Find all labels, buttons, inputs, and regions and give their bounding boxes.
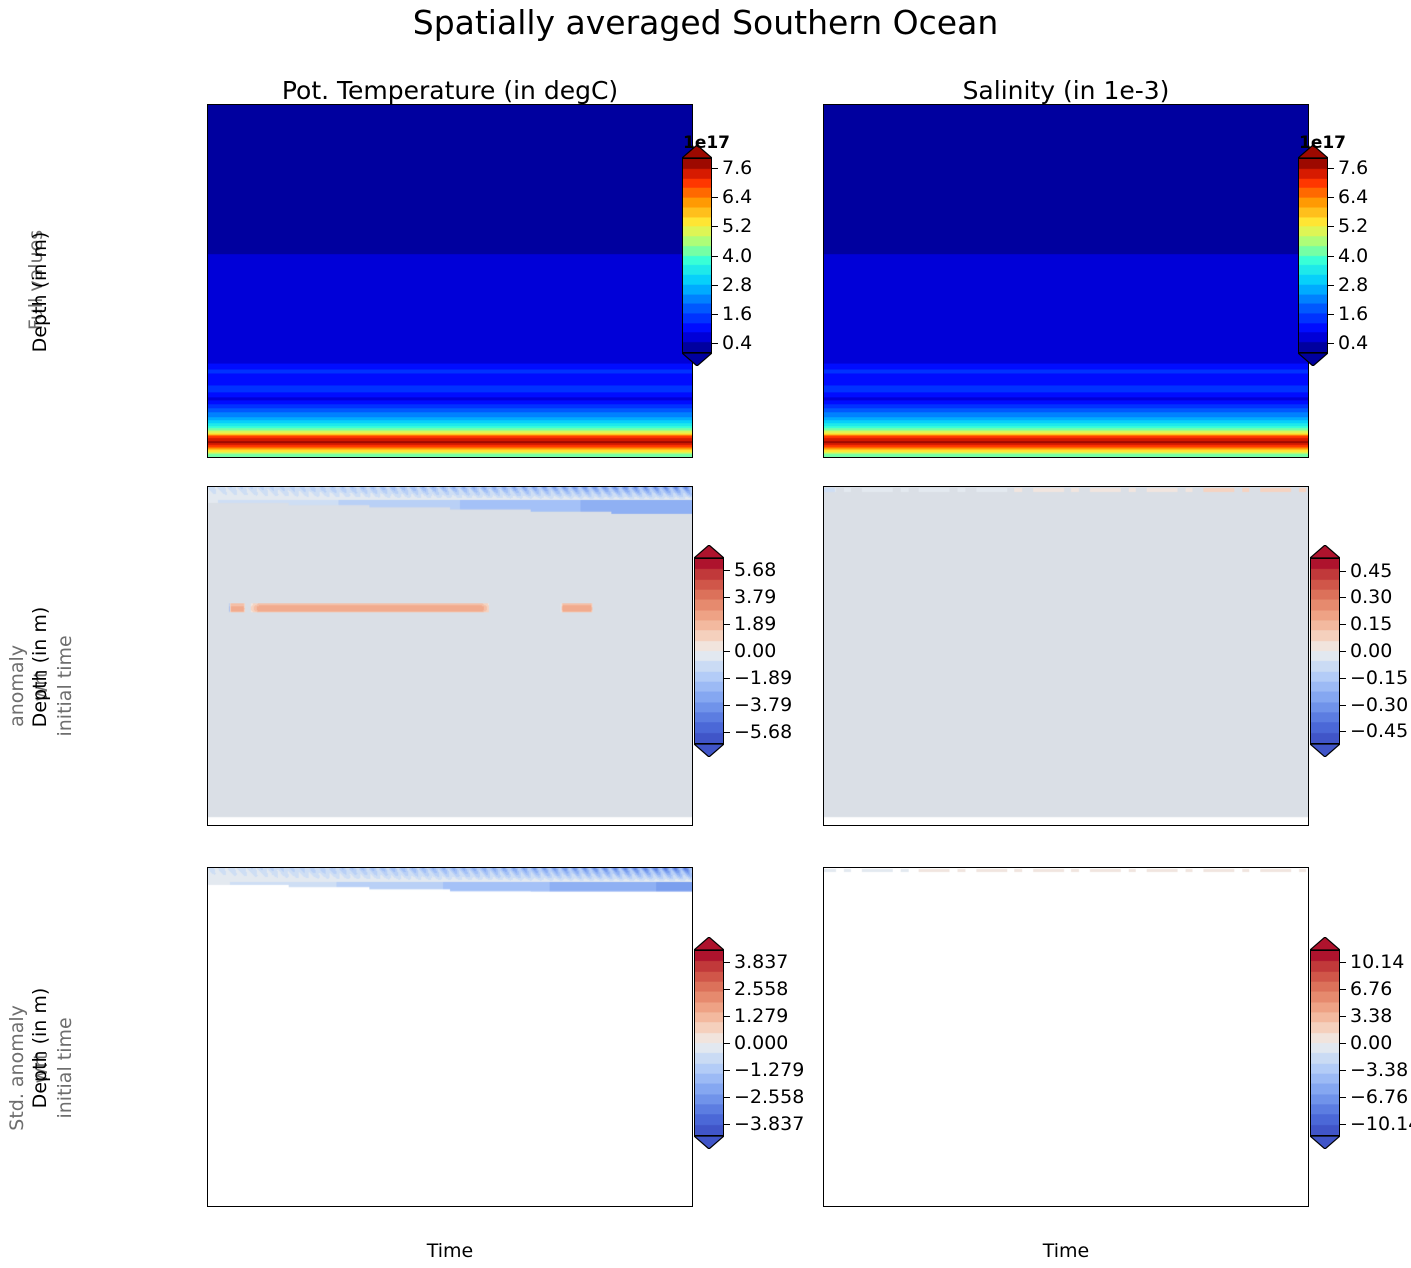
colorbar-tick-mark — [1328, 256, 1334, 257]
colorbar-tick-label: 4.0 — [1338, 245, 1368, 267]
x-tick-mark — [933, 825, 934, 826]
colorbar-extend-top — [694, 937, 724, 950]
colorbar-extend-bottom — [1310, 744, 1340, 757]
colorbar-panel-temp-full: 0.41.62.84.05.26.47.6 — [682, 158, 712, 353]
x-tick-mark — [317, 457, 318, 458]
colorbar-tick-label: 1.6 — [722, 303, 752, 325]
colorbar-tick-label: 1.279 — [734, 1005, 788, 1027]
colorbar-tick-mark — [1340, 731, 1346, 732]
x-tick-mark — [317, 825, 318, 826]
x-tick-mark — [1284, 1206, 1285, 1207]
colorbar-tick-mark — [1340, 1016, 1346, 1017]
x-tick-mark — [1109, 825, 1110, 826]
colorbar-tick-label: 2.8 — [1338, 274, 1368, 296]
x-tick-mark — [405, 825, 406, 826]
x-tick-mark — [846, 825, 847, 826]
colorbar-tick-label: 6.4 — [1338, 186, 1368, 208]
colorbar-tick-label: −0.45 — [1350, 720, 1408, 742]
panel-temp-full[interactable]: 010002000300040005000 — [207, 104, 693, 458]
x-tick-mark — [1240, 825, 1241, 826]
colorbar-tick-mark — [712, 256, 718, 257]
colorbar-tick-mark — [724, 1070, 730, 1071]
colorbar-tick-mark — [1328, 197, 1334, 198]
colorbar-tick-label: 10.14 — [1350, 951, 1404, 973]
x-tick-mark — [890, 457, 891, 458]
colorbar-tick-mark — [1340, 651, 1346, 652]
x-tick-mark — [1284, 457, 1285, 458]
colorbar-tick-mark — [724, 1016, 730, 1017]
colorbar-tick-mark — [712, 197, 718, 198]
colorbar-tick-label: 0.45 — [1350, 560, 1392, 582]
colorbar-tick-mark — [1328, 285, 1334, 286]
colorbar-tick-label: 4.0 — [722, 245, 752, 267]
figure-suptitle: Spatially averaged Southern Ocean — [0, 3, 1411, 42]
y-axis-label-depth: Depth (in m) — [29, 567, 51, 767]
x-axis-label-time: Time — [823, 1240, 1309, 1262]
colorbar-tick-label: 1.89 — [734, 613, 776, 635]
colorbar-panel-salt-anomaly: 0.450.300.150.00−0.15−0.30−0.45 — [1310, 558, 1340, 744]
colorbar-tick-label: 6.76 — [1350, 978, 1392, 1000]
colorbar-tick-mark — [1328, 314, 1334, 315]
x-tick-mark — [449, 825, 450, 826]
x-tick-mark — [361, 457, 362, 458]
colorbar-tick-label: 0.00 — [1350, 640, 1392, 662]
colorbar-tick-label: 5.68 — [734, 559, 776, 581]
x-tick-mark — [274, 1206, 275, 1207]
x-tick-mark — [846, 1206, 847, 1207]
colorbar-tick-mark — [724, 651, 730, 652]
x-tick-mark — [1196, 825, 1197, 826]
colorbar-tick-label: 6.4 — [722, 186, 752, 208]
x-tick-mark — [624, 1206, 625, 1207]
x-tick-mark — [230, 825, 231, 826]
colorbar-tick-mark — [724, 1124, 730, 1125]
x-tick-mark — [1284, 825, 1285, 826]
x-tick-mark — [1196, 1206, 1197, 1207]
colorbar-tick-mark — [1340, 962, 1346, 963]
colorbar-tick-label: 3.79 — [734, 586, 776, 608]
colorbar-gradient — [1310, 950, 1340, 1136]
colorbar-panel-salt-full: 0.41.62.84.05.26.47.6 — [1298, 158, 1328, 353]
colorbar-tick-label: 0.15 — [1350, 613, 1392, 635]
x-tick-mark — [1021, 1206, 1022, 1207]
x-tick-mark — [890, 1206, 891, 1207]
x-tick-mark — [536, 1206, 537, 1207]
x-tick-mark — [1152, 825, 1153, 826]
colorbar-gradient — [682, 158, 712, 353]
x-tick-mark — [580, 825, 581, 826]
colorbar-panel-temp-anomaly: 5.683.791.890.00−1.89−3.79−5.68 — [694, 558, 724, 744]
colorbar-tick-mark — [724, 597, 730, 598]
x-tick-mark — [1021, 457, 1022, 458]
colorbar-extend-bottom — [694, 744, 724, 757]
y-axis-label-depth: Depth (in m) — [29, 948, 51, 1148]
colorbar-tick-label: 7.6 — [722, 157, 752, 179]
x-tick-mark — [536, 457, 537, 458]
x-tick-mark — [624, 457, 625, 458]
x-tick-mark — [449, 1206, 450, 1207]
colorbar-gradient — [1310, 558, 1340, 744]
colorbar-tick-mark — [1340, 989, 1346, 990]
heatmap-salt-std-anomaly — [824, 868, 1308, 1206]
x-tick-mark — [933, 1206, 934, 1207]
x-tick-mark — [274, 457, 275, 458]
colorbar-tick-label: 1.6 — [1338, 303, 1368, 325]
colorbar-tick-label: 5.2 — [1338, 215, 1368, 237]
colorbar-tick-mark — [712, 168, 718, 169]
colorbar-gradient — [694, 558, 724, 744]
x-tick-mark — [1065, 457, 1066, 458]
colorbar-extend-bottom — [682, 353, 712, 366]
colorbar-offset-text: 1e17 — [683, 133, 730, 153]
colorbar-tick-label: −2.558 — [734, 1086, 804, 1108]
x-tick-mark — [493, 1206, 494, 1207]
colorbar-tick-mark — [1340, 571, 1346, 572]
x-tick-mark — [1021, 825, 1022, 826]
colorbar-tick-label: 2.8 — [722, 274, 752, 296]
colorbar-tick-mark — [724, 1043, 730, 1044]
colorbar-tick-mark — [712, 226, 718, 227]
colorbar-offset-text: 1e17 — [1299, 133, 1346, 153]
colorbar-tick-mark — [712, 343, 718, 344]
colorbar-tick-mark — [724, 678, 730, 679]
x-tick-mark — [361, 1206, 362, 1207]
colorbar-tick-label: 0.30 — [1350, 586, 1392, 608]
colorbar-tick-mark — [724, 989, 730, 990]
colorbar-tick-label: 3.837 — [734, 951, 788, 973]
colorbar-tick-label: 0.00 — [1350, 1032, 1392, 1054]
colorbar-tick-mark — [724, 624, 730, 625]
column-title-pot-temperature: Pot. Temperature (in degC) — [207, 76, 693, 105]
colorbar-tick-label: 3.38 — [1350, 1005, 1392, 1027]
colorbar-extend-bottom — [1298, 353, 1328, 366]
x-tick-mark — [405, 457, 406, 458]
colorbar-tick-label: −6.76 — [1350, 1086, 1408, 1108]
x-tick-mark — [361, 825, 362, 826]
figure-canvas: Spatially averaged Southern Ocean Pot. T… — [0, 0, 1411, 1268]
x-axis-label-time: Time — [207, 1240, 693, 1262]
y-axis-label-depth: Depth (in m) — [29, 192, 51, 392]
x-tick-mark — [1109, 1206, 1110, 1207]
colorbar-tick-label: −3.837 — [734, 1113, 804, 1135]
colorbar-tick-label: 0.00 — [734, 640, 776, 662]
panel-temp-anomaly[interactable]: 010002000300040005000 — [207, 486, 693, 826]
colorbar-tick-mark — [724, 570, 730, 571]
x-tick-mark — [668, 457, 669, 458]
colorbar-extend-top — [1310, 545, 1340, 558]
colorbar-tick-mark — [724, 705, 730, 706]
heatmap-temp-std-anomaly — [208, 868, 692, 1206]
heatmap-salt-full — [824, 105, 1308, 457]
panel-salt-std-anomaly[interactable]: 1990199219941996199820002002200420062008… — [823, 867, 1309, 1207]
colorbar-tick-label: −3.38 — [1350, 1059, 1408, 1081]
colorbar-gradient — [694, 950, 724, 1136]
colorbar-tick-mark — [1340, 597, 1346, 598]
x-tick-mark — [668, 1206, 669, 1207]
colorbar-tick-mark — [1328, 168, 1334, 169]
colorbar-tick-mark — [1340, 1124, 1346, 1125]
x-tick-mark — [1152, 457, 1153, 458]
colorbar-tick-label: 0.4 — [722, 332, 752, 354]
colorbar-panel-salt-std-anomaly: 10.146.763.380.00−3.38−6.76−10.14 — [1310, 950, 1340, 1136]
x-tick-mark — [230, 457, 231, 458]
x-tick-mark — [1196, 457, 1197, 458]
colorbar-tick-label: −0.30 — [1350, 694, 1408, 716]
heatmap-temp-anomaly — [208, 487, 692, 825]
colorbar-tick-mark — [724, 732, 730, 733]
colorbar-tick-label: −5.68 — [734, 721, 792, 743]
x-tick-mark — [449, 457, 450, 458]
colorbar-tick-label: −0.15 — [1350, 667, 1408, 689]
x-tick-mark — [846, 457, 847, 458]
colorbar-tick-label: 5.2 — [722, 215, 752, 237]
x-tick-mark — [493, 825, 494, 826]
x-tick-mark — [493, 457, 494, 458]
x-tick-mark — [580, 457, 581, 458]
colorbar-extend-top — [694, 545, 724, 558]
x-tick-mark — [977, 825, 978, 826]
x-tick-mark — [230, 1206, 231, 1207]
x-tick-mark — [274, 825, 275, 826]
panel-temp-std-anomaly[interactable]: 0100020003000400050001990199219941996199… — [207, 867, 693, 1207]
colorbar-tick-mark — [724, 1097, 730, 1098]
colorbar-tick-label: 7.6 — [1338, 157, 1368, 179]
x-tick-mark — [1109, 457, 1110, 458]
heatmap-salt-anomaly — [824, 487, 1308, 825]
x-tick-mark — [1065, 825, 1066, 826]
colorbar-tick-mark — [1340, 624, 1346, 625]
colorbar-tick-label: −1.279 — [734, 1059, 804, 1081]
colorbar-tick-mark — [712, 285, 718, 286]
x-tick-mark — [580, 1206, 581, 1207]
colorbar-tick-label: 2.558 — [734, 978, 788, 1000]
colorbar-tick-label: 0.4 — [1338, 332, 1368, 354]
colorbar-panel-temp-std-anomaly: 3.8372.5581.2790.000−1.279−2.558−3.837 — [694, 950, 724, 1136]
colorbar-tick-label: −1.89 — [734, 667, 792, 689]
x-tick-mark — [405, 1206, 406, 1207]
x-tick-mark — [890, 825, 891, 826]
x-tick-mark — [536, 825, 537, 826]
colorbar-tick-label: 0.000 — [734, 1032, 788, 1054]
column-title-salinity: Salinity (in 1e-3) — [823, 76, 1309, 105]
colorbar-tick-mark — [1340, 1070, 1346, 1071]
x-tick-mark — [624, 825, 625, 826]
colorbar-tick-mark — [724, 962, 730, 963]
colorbar-tick-mark — [1340, 1097, 1346, 1098]
colorbar-extend-bottom — [1310, 1136, 1340, 1149]
x-tick-mark — [1065, 1206, 1066, 1207]
colorbar-tick-label: −3.79 — [734, 694, 792, 716]
colorbar-extend-bottom — [694, 1136, 724, 1149]
x-tick-mark — [933, 457, 934, 458]
colorbar-tick-mark — [712, 314, 718, 315]
x-tick-mark — [977, 1206, 978, 1207]
panel-salt-anomaly[interactable] — [823, 486, 1309, 826]
x-tick-mark — [1240, 1206, 1241, 1207]
colorbar-extend-top — [1310, 937, 1340, 950]
colorbar-tick-mark — [1328, 343, 1334, 344]
colorbar-tick-mark — [1340, 705, 1346, 706]
x-tick-mark — [668, 825, 669, 826]
colorbar-tick-mark — [1328, 226, 1334, 227]
colorbar-tick-mark — [1340, 1043, 1346, 1044]
x-tick-mark — [317, 1206, 318, 1207]
x-tick-mark — [977, 457, 978, 458]
heatmap-temp-full — [208, 105, 692, 457]
colorbar-tick-label: −10.14 — [1350, 1113, 1411, 1135]
x-tick-mark — [1240, 457, 1241, 458]
colorbar-gradient — [1298, 158, 1328, 353]
panel-salt-full[interactable] — [823, 104, 1309, 458]
x-tick-mark — [1152, 1206, 1153, 1207]
colorbar-tick-mark — [1340, 678, 1346, 679]
